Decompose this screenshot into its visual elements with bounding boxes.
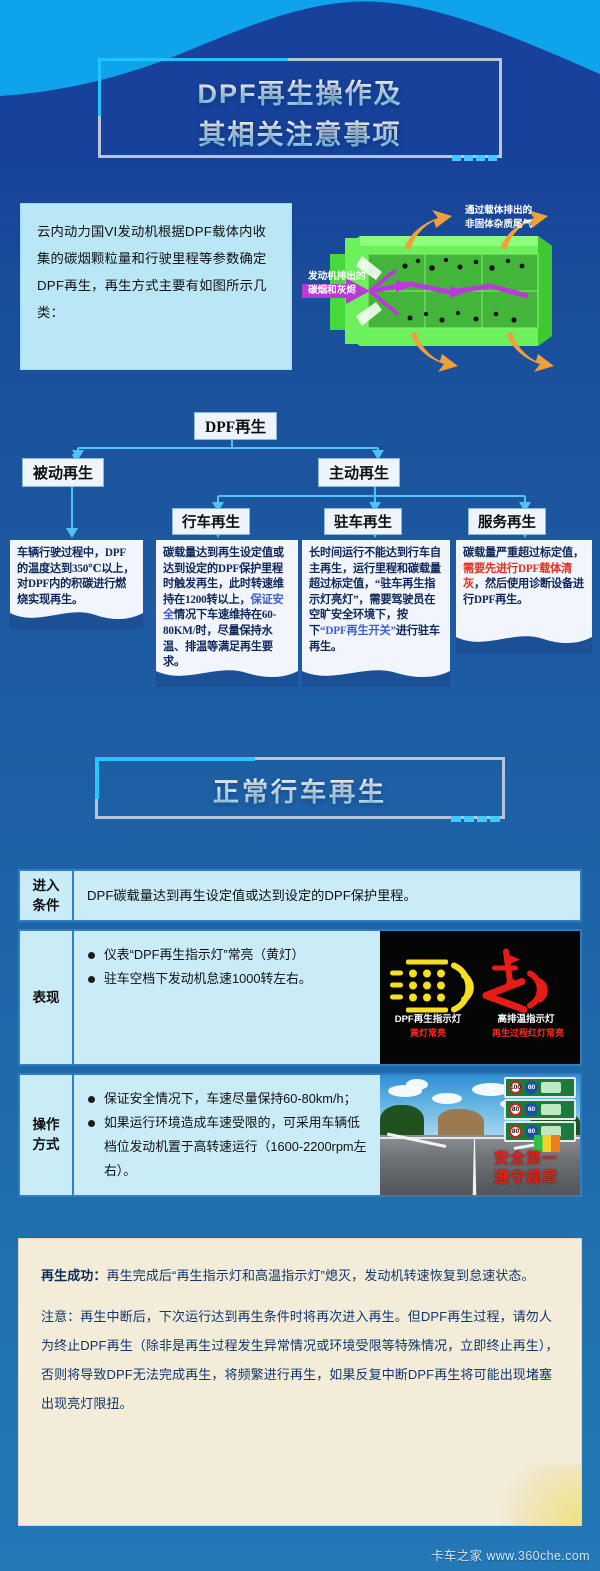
list-item: 如果运行环境造成车速受限的，可采用车辆低档位发动机置于高转速运行（1600-22… <box>87 1111 370 1183</box>
vehicle-bus-icon <box>541 1104 561 1115</box>
table-label-line1: 表现 <box>33 988 60 1008</box>
figure-label-outlet: 通过载体排出的 非固体杂质尾气 <box>465 204 532 232</box>
operation-list: 保证安全情况下，车速尽量保持60-80km/h； 如果运行环境造成车速受限的，可… <box>87 1087 370 1183</box>
info-table: 进入 条件 DPF碳载量达到再生设定值或达到设定的DPF保护里程。 表现 仪表“… <box>18 869 582 1204</box>
list-item: 仪表“DPF再生指示灯”常亮（黄灯） <box>87 943 370 967</box>
note-caution: 注意：再生中断后，下次运行达到再生条件时将再次进入再生。但DPF再生过程，请勿人… <box>41 1302 559 1418</box>
flow-node-service: 服务再生 <box>468 508 546 535</box>
highway-photo: 100 60 80 60 80 60 <box>380 1075 580 1195</box>
flow-desc-service-a: 碳载量严重超过标定值， <box>463 547 584 559</box>
cloud <box>432 1093 462 1104</box>
flow-desc-park: 长时间运行不能达到行车自主再生，运行里程和碳载量超过标定值，“驻车再生指示灯亮灯… <box>302 540 450 686</box>
intro-panel: 云内动力国VI发动机根据DPF载体内收集的碳烟颗粒量和行驶里程等参数确定DPF再… <box>20 203 292 370</box>
dpf-lamp-caption: DPF再生指示灯 <box>382 1011 474 1025</box>
table-label-line1: 进入 <box>33 876 60 896</box>
cloud <box>406 1079 428 1090</box>
highway-overlay-line2: 遵守规章 <box>478 1168 574 1187</box>
flowchart: DPF再生 被动再生 主动再生 行车再生 驻车再生 服务再生 车辆行驶过程中，D… <box>0 406 600 696</box>
speed-limit-min: 60 <box>525 1103 538 1116</box>
flow-node-root: DPF再生 <box>194 412 277 440</box>
table-row-body: 仪表“DPF再生指示灯”常亮（黄灯） 驻车空档下发动机怠速1000转左右。 <box>74 931 580 1064</box>
table-label-line2: 方式 <box>33 1135 60 1155</box>
speed-sign: 80 60 <box>504 1099 576 1120</box>
flow-desc-park-highlight: “DPF再生开关” <box>320 625 396 637</box>
page-title-line1: DPF再生操作及 <box>198 72 403 111</box>
figure-label-inlet: 发动机排出的 碳烟和灰烬 <box>308 270 366 298</box>
flow-node-passive: 被动再生 <box>22 458 104 487</box>
speed-sign: 100 60 <box>504 1077 576 1098</box>
speed-limit-max: 80 <box>509 1125 522 1138</box>
banner-accent-top <box>95 757 255 761</box>
intro-text: 云内动力国VI发动机根据DPF载体内收集的碳烟颗粒量和行驶里程等参数确定DPF再… <box>37 218 277 326</box>
table-row-label-operation: 操作 方式 <box>20 1075 74 1195</box>
speed-limit-max: 80 <box>509 1103 522 1116</box>
dpf-illustration: 通过载体排出的 非固体杂质尾气 发动机排出的 碳烟和灰烬 <box>300 196 596 376</box>
figure-label-outlet-line2: 非固体杂质尾气 <box>465 218 532 232</box>
figure-label-outlet-line1: 通过载体排出的 <box>465 204 532 218</box>
table-row-body: 保证安全情况下，车速尽量保持60-80km/h； 如果运行环境造成车速受限的，可… <box>74 1075 580 1195</box>
table-cell-text: 保证安全情况下，车速尽量保持60-80km/h； 如果运行环境造成车速受限的，可… <box>74 1075 380 1195</box>
entry-condition-text: DPF碳载量达到再生设定值或达到设定的DPF保护里程。 <box>87 883 570 908</box>
desc-wave-passive <box>10 609 143 629</box>
table-row-label-symptom: 表现 <box>20 931 74 1064</box>
speed-limit-max: 100 <box>509 1081 522 1094</box>
table-cell-text: DPF碳载量达到再生设定值或达到设定的DPF保护里程。 <box>74 871 580 920</box>
highway-overlay-text: 安全第一 遵守规章 <box>478 1149 574 1187</box>
highway-image: 100 60 80 60 80 60 <box>380 1075 580 1195</box>
figure-label-inlet-line1: 发动机排出的 <box>308 270 366 284</box>
note-corner-decoration <box>485 1465 581 1525</box>
table-label-line1: 操作 <box>33 1115 60 1135</box>
page-title-line2: 其相关注意事项 <box>199 113 402 152</box>
table-row: 表现 仪表“DPF再生指示灯”常亮（黄灯） 驻车空档下发动机怠速1000转左右。 <box>18 929 582 1066</box>
note-success: 再生成功：再生完成后“再生指示灯和高温指示灯”熄灭，发动机转速恢复到怠速状态。 <box>41 1261 559 1290</box>
list-item: 保证安全情况下，车速尽量保持60-80km/h； <box>87 1087 370 1111</box>
hot-lamp-subcaption: 再生过程红灯常亮 <box>480 1026 576 1039</box>
flow-desc-service-b: ，然后使用诊断设备进行DPF再生。 <box>463 578 584 606</box>
highway-overlay-line1: 安全第一 <box>478 1149 574 1168</box>
flow-desc-park-a: 长时间运行不能达到行车自主再生，运行里程和碳载量超过标定值，“驻车再生指示灯亮灯… <box>309 547 441 637</box>
figure-label-inlet-line2: 碳烟和灰烬 <box>308 284 366 298</box>
footer-watermark: 卡车之家 www.360che.com <box>431 1545 590 1564</box>
title-frame-accent-top <box>98 58 288 61</box>
dashboard-lamps-image: DPF再生指示灯 黄灯常亮 高排温指示灯 再生过程红灯常亮 <box>380 931 580 1064</box>
section-banner-title: 正常行车再生 <box>95 762 505 818</box>
dpf-lamp-subcaption: 黄灯常亮 <box>380 1026 476 1039</box>
table-row-body: DPF碳载量达到再生设定值或达到设定的DPF保护里程。 <box>74 871 580 920</box>
flow-node-drive: 行车再生 <box>172 508 250 535</box>
flow-desc-drive-b: 情况下车速维持在60-80KM/时，尽量保持水温、排温等满足再生要求。 <box>163 609 276 668</box>
table-row: 进入 条件 DPF碳载量达到再生设定值或达到设定的DPF保护里程。 <box>18 869 582 922</box>
hill <box>438 1109 484 1135</box>
dpf-regen-lamp-icon <box>390 960 471 1013</box>
note-success-text: 再生完成后“再生指示灯和高温指示灯”熄灭，发动机转速恢复到怠速状态。 <box>107 1268 535 1283</box>
note-success-label: 再生成功： <box>41 1268 107 1283</box>
lamp-icons <box>380 931 580 1064</box>
page-title: DPF再生操作及 其相关注意事项 <box>98 66 502 158</box>
list-item: 驻车空档下发动机怠速1000转左右。 <box>87 967 370 991</box>
table-row-label-entry: 进入 条件 <box>20 871 74 920</box>
bottom-note-panel: 再生成功：再生完成后“再生指示灯和高温指示灯”熄灭，发动机转速恢复到怠速状态。 … <box>18 1238 582 1526</box>
flow-desc-drive: 碳载量达到再生设定值或达到设定的DPF保护里程时触发再生，此时转速维持在1200… <box>156 540 298 686</box>
flow-desc-service: 碳载量严重超过标定值，需要先进行DPF载体清灰，然后使用诊断设备进行DPF再生。 <box>456 540 592 652</box>
speed-limit-min: 60 <box>525 1081 538 1094</box>
table-cell-text: 仪表“DPF再生指示灯”常亮（黄灯） 驻车空档下发动机怠速1000转左右。 <box>74 931 380 1064</box>
table-label-line2: 条件 <box>33 896 60 916</box>
desc-wave-service <box>456 633 592 653</box>
desc-wave-drive <box>156 667 298 687</box>
symptom-list: 仪表“DPF再生指示灯”常亮（黄灯） 驻车空档下发动机怠速1000转左右。 <box>87 943 370 991</box>
table-row: 操作 方式 保证安全情况下，车速尽量保持60-80km/h； 如果运行环境造成车… <box>18 1073 582 1197</box>
desc-wave-park <box>302 667 450 687</box>
flow-desc-passive: 车辆行驶过程中，DPF的温度达到350℃以上，对DPF内的积碳进行燃烧实现再生。 <box>10 540 143 628</box>
flow-desc-passive-text: 车辆行驶过程中，DPF的温度达到350℃以上，对DPF内的积碳进行燃烧实现再生。 <box>17 547 134 606</box>
flow-node-park: 驻车再生 <box>324 508 402 535</box>
flow-node-active: 主动再生 <box>318 458 400 487</box>
vehicle-car-icon <box>541 1082 561 1093</box>
lamp-panel: DPF再生指示灯 黄灯常亮 高排温指示灯 再生过程红灯常亮 <box>380 931 580 1064</box>
high-exhaust-temp-lamp-icon <box>486 952 545 1010</box>
hot-lamp-caption: 高排温指示灯 <box>480 1011 572 1025</box>
